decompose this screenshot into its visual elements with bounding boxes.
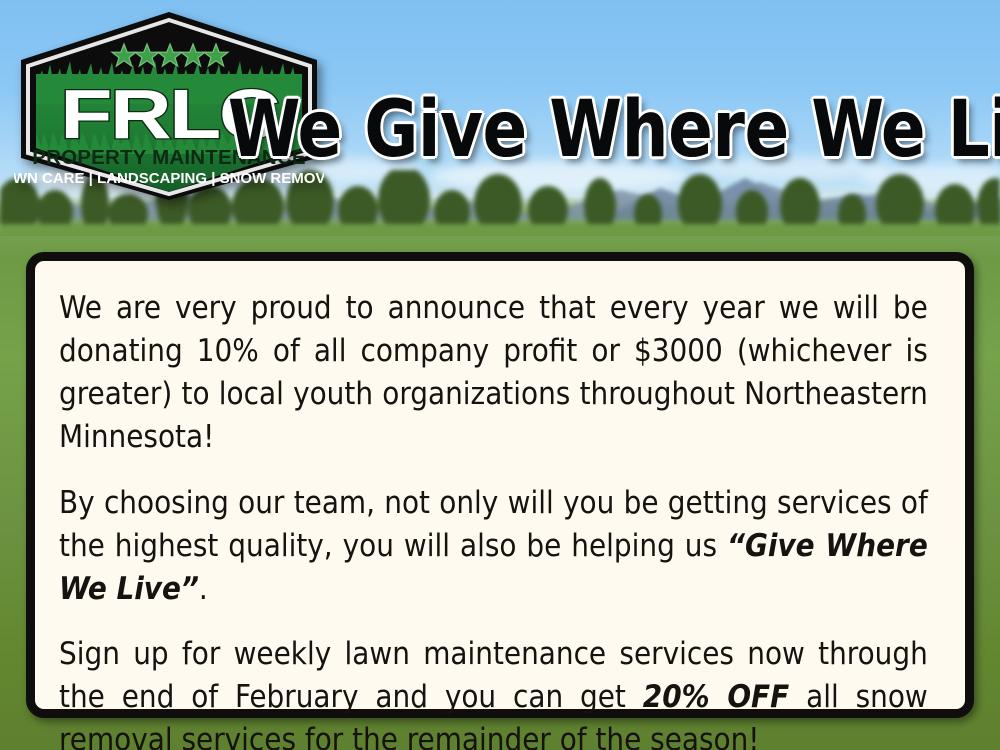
headline: We Give Where We Live (338, 82, 988, 178)
paragraph-3: Sign up for weekly lawn maintenance serv… (59, 633, 928, 750)
paragraph-2: By choosing our team, not only will you … (59, 482, 928, 611)
promo-poster: FRLC PROPERTY MAINTENANCE LAWN CARE | LA… (0, 0, 1000, 750)
message-card: We are very proud to announce that every… (26, 252, 974, 718)
emphasis-text: “Give Where We Live” (59, 528, 928, 607)
paragraph-1: We are very proud to announce that every… (59, 287, 928, 460)
headline-text: We Give Where We Live (228, 91, 1000, 169)
emphasis-text: 20% OFF (643, 679, 789, 715)
